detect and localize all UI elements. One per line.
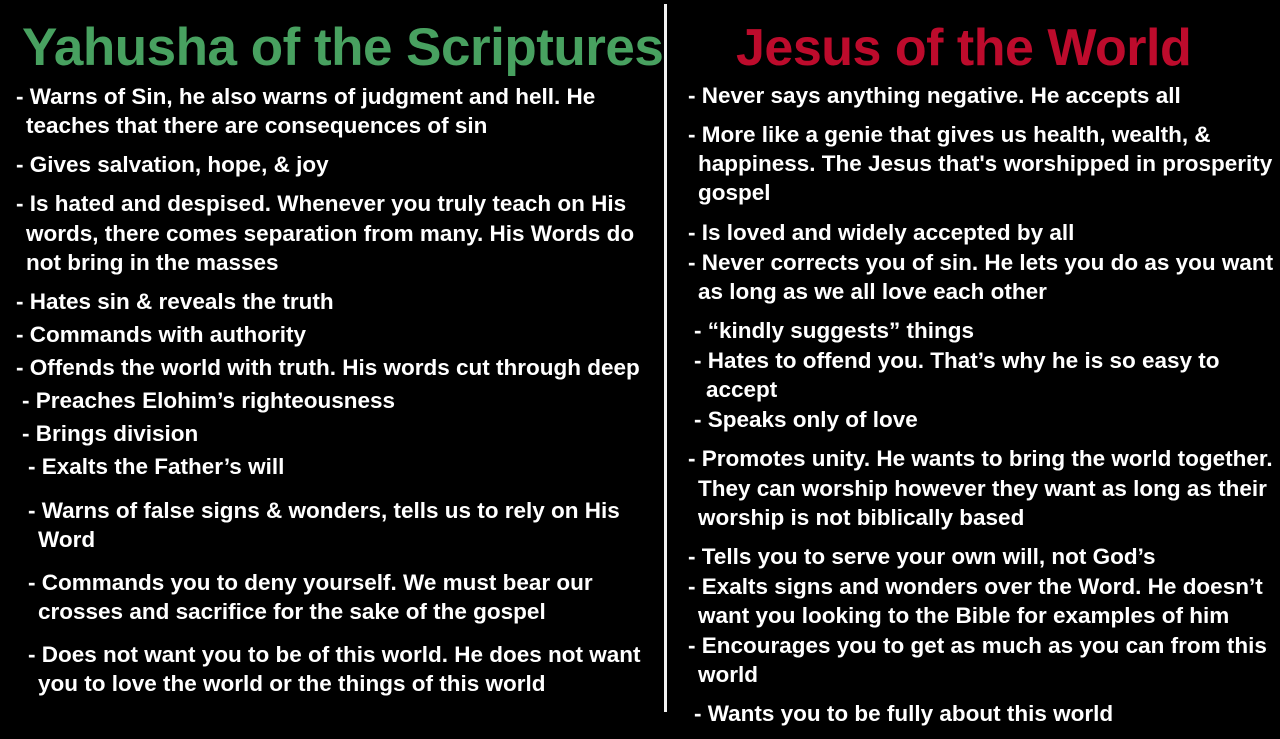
list-item: - Wants you to be fully about this world	[688, 699, 1276, 728]
list-item: - Warns of Sin, he also warns of judgmen…	[16, 82, 652, 140]
left-column-bullet-list: - Warns of Sin, he also warns of judgmen…	[16, 82, 652, 698]
list-item: - Never says anything negative. He accep…	[688, 81, 1276, 110]
list-item: - Is hated and despised. Whenever you tr…	[16, 189, 652, 276]
list-item: - Hates sin & reveals the truth	[16, 287, 652, 316]
list-item: - Tells you to serve your own will, not …	[688, 542, 1276, 571]
right-column-heading: Jesus of the World	[688, 0, 1276, 74]
list-item: - Promotes unity. He wants to bring the …	[688, 444, 1276, 531]
list-item: - Warns of false signs & wonders, tells …	[16, 496, 652, 554]
list-item: - Never corrects you of sin. He lets you…	[688, 248, 1276, 306]
list-item: - Offends the world with truth. His word…	[16, 353, 652, 382]
comparison-slide: Yahusha of the Scriptures - Warns of Sin…	[0, 0, 1280, 720]
list-item: - Exalts the Father’s will	[16, 452, 652, 481]
list-item: - Exalts signs and wonders over the Word…	[688, 572, 1276, 630]
right-column: Jesus of the World - Never says anything…	[672, 0, 1280, 739]
list-item: - Commands you to deny yourself. We must…	[16, 568, 652, 626]
list-item: - Speaks only of love	[688, 405, 1276, 434]
list-item: - More like a genie that gives us health…	[688, 120, 1276, 207]
left-column-heading: Yahusha of the Scriptures	[16, 0, 652, 74]
list-item: - Encourages you to get as much as you c…	[688, 631, 1276, 689]
list-item: - Hates to offend you. That’s why he is …	[688, 346, 1276, 404]
column-divider	[664, 4, 667, 712]
list-item: - Is loved and widely accepted by all	[688, 218, 1276, 247]
list-item: - Preaches Elohim’s righteousness	[16, 386, 652, 415]
list-item: - Brings division	[16, 419, 652, 448]
list-item: - “kindly suggests” things	[688, 316, 1276, 345]
left-column: Yahusha of the Scriptures - Warns of Sin…	[0, 0, 660, 708]
list-item: - Gives salvation, hope, & joy	[16, 150, 652, 179]
list-item: - Commands with authority	[16, 320, 652, 349]
list-item: - Does not want you to be of this world.…	[16, 640, 652, 698]
right-column-bullet-list: - Never says anything negative. He accep…	[688, 81, 1276, 729]
